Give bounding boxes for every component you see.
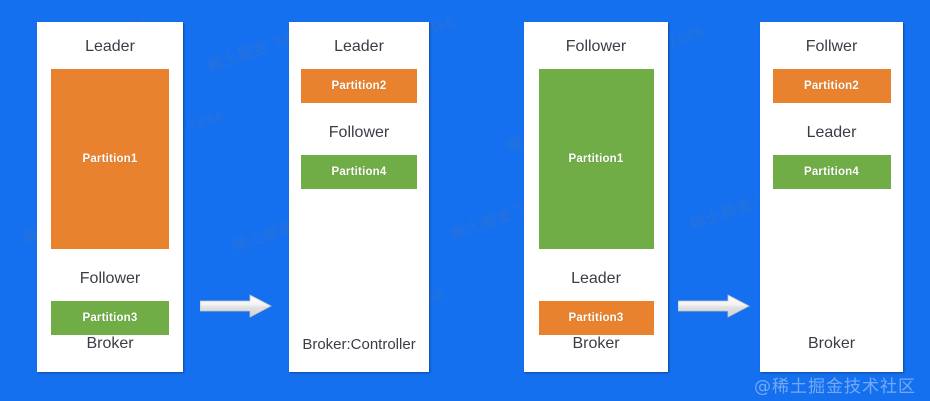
broker-panel-2[interactable]: Leader Partition2 Follower Partition4 Br… [289, 22, 429, 372]
role-label-follower: Follower [37, 271, 183, 287]
broker-panel-1[interactable]: Leader Partition1 Follower Partition3 Br… [37, 22, 183, 372]
role-label-leader: Leader [37, 39, 183, 55]
transition-arrow-1 [200, 294, 272, 318]
role-label-follower: Follower [524, 39, 668, 55]
corner-watermark: @稀土掘金技术社区 [754, 372, 916, 397]
broker-panel-4[interactable]: Follwer Partition2 Leader Partition4 Bro… [760, 22, 903, 372]
partition-box-partition2[interactable]: Partition2 [301, 69, 417, 103]
partition-box-partition2[interactable]: Partition2 [773, 69, 891, 103]
broker-footer-label-4: Broker [760, 336, 903, 352]
partition-box-partition1[interactable]: Partition1 [539, 69, 654, 249]
broker-footer-label-3: Broker [524, 336, 668, 352]
role-label-leader: Leader [524, 271, 668, 287]
broker-panel-3[interactable]: Follower Partition1 Leader Partition3 Br… [524, 22, 668, 372]
diagram-stage: Leader Partition1 Follower Partition3 Br… [0, 0, 930, 401]
partition-box-partition4[interactable]: Partition4 [773, 155, 891, 189]
role-label-leader: Leader [760, 125, 903, 141]
partition-box-partition3[interactable]: Partition3 [51, 301, 169, 335]
partition-box-partition3[interactable]: Partition3 [539, 301, 654, 335]
role-label-leader: Leader [289, 39, 429, 55]
broker-footer-label-2: Broker:Controller [289, 337, 429, 352]
partition-box-partition1[interactable]: Partition1 [51, 69, 169, 249]
role-label-follower: Follower [289, 125, 429, 141]
role-label-follwer: Follwer [760, 39, 903, 55]
transition-arrow-2 [678, 294, 750, 318]
partition-box-partition4[interactable]: Partition4 [301, 155, 417, 189]
arrow-right-icon [678, 294, 750, 318]
arrow-right-icon [200, 294, 272, 318]
broker-footer-label-1: Broker [37, 336, 183, 352]
